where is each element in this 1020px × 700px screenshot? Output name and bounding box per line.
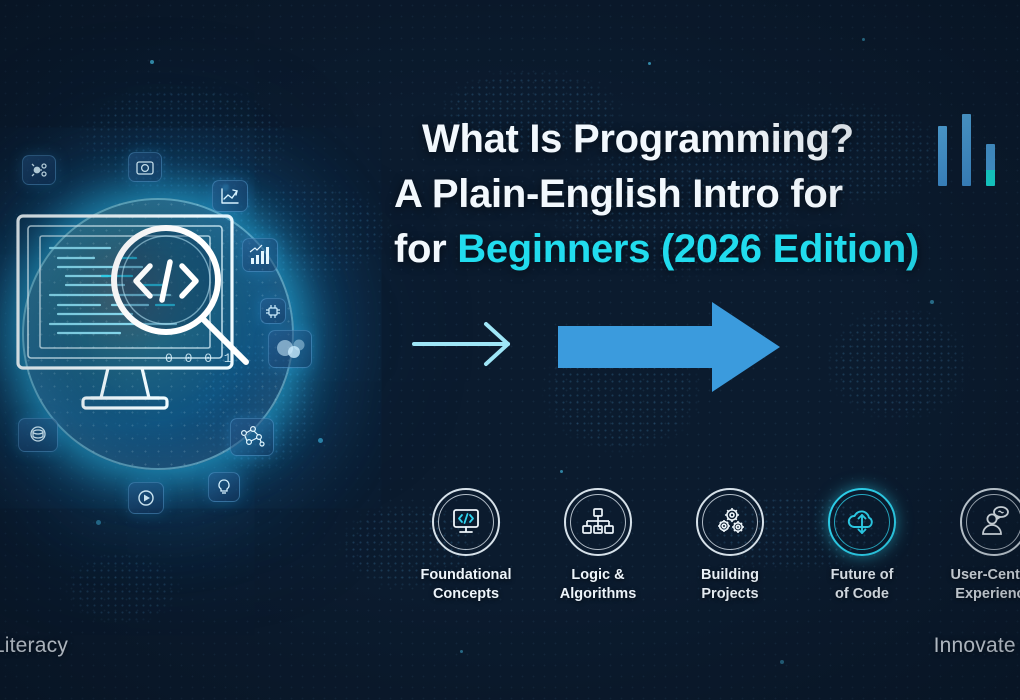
sparkle-particle [780,660,784,664]
tile-circuit-chip-icon [260,298,286,324]
arrow-group [380,280,830,420]
feature-ring [828,488,896,556]
feature-ring [564,488,632,556]
feature-ring [432,488,500,556]
feature-label-line-2: of Code [831,585,894,604]
feature-label-line-1: User-Centric [950,566,1020,585]
feature-user-centric-experience[interactable]: User-Centric Experience [928,488,1020,604]
headline-block: What Is Programming? A Plain-English Int… [380,112,1020,277]
tile-settings-gear-icon [22,155,56,185]
feature-icon-row: Foundational Concepts Logic & Algorithms [400,488,1020,604]
feature-ring [696,488,764,556]
sparkle-particle [862,38,865,41]
feature-building-projects[interactable]: Building Projects [664,488,796,604]
hero-illustration: 0 0 0 1 [0,150,340,530]
headline-line-2: A Plain-English Intro for [380,167,1020,222]
feature-foundational-concepts[interactable]: Foundational Concepts [400,488,532,604]
poster-canvas: 0 0 0 1 [0,0,1020,700]
feature-label-line-2: Algorithms [560,585,637,604]
bold-arrow-right-icon [558,302,780,392]
sparkle-particle [460,650,463,653]
sparkle-particle [648,62,651,65]
feature-label-line-1: Logic & [560,566,637,585]
accent-bar-2 [962,114,971,186]
feature-label: Future of of Code [831,566,894,604]
accent-bar-3 [986,144,995,186]
feature-logic-algorithms[interactable]: Logic & Algorithms [532,488,664,604]
feature-label: Foundational Concepts [420,566,511,604]
feature-label-line-2: Experience [950,585,1020,604]
tile-lightbulb-icon [208,472,240,502]
feature-label-line-2: Projects [701,585,759,604]
tile-play-button-icon [128,482,164,514]
bottom-right-caption: Innovate & [934,634,1020,658]
tile-circles-overlap-icon [268,330,312,368]
feature-future-of-code[interactable]: Future of of Code [796,488,928,604]
headline-accent-text: Beginners (2026 Edition) [457,227,919,271]
feature-label: Logic & Algorithms [560,566,637,604]
tile-database-icon [18,418,58,452]
feature-ring [960,488,1020,556]
feature-label-line-2: Concepts [420,585,511,604]
sparkle-particle [560,470,563,473]
flowchart-tree-icon [581,506,615,538]
code-monitor-icon [449,506,483,538]
bottom-left-caption: l Literacy [0,634,68,658]
tile-bar-chart-icon [242,238,278,272]
feature-label-line-1: Future of [831,566,894,585]
user-chat-icon [977,506,1011,538]
headline-line-3: for Beginners (2026 Edition) [380,222,1020,277]
tile-camera-icon [128,152,162,182]
feature-label: Building Projects [701,566,759,604]
feature-label-line-1: Foundational [420,566,511,585]
gears-icon [712,505,748,539]
accent-bar-1 [938,126,947,186]
sparkle-particle [150,60,154,64]
tile-molecule-network-icon [230,418,274,456]
headline-line-1: What Is Programming? [380,112,1020,167]
feature-label-line-1: Building [701,566,759,585]
bar-accent-graphic [938,114,1008,186]
sparkle-particle [930,300,934,304]
svg-text:0 0 0 1: 0 0 0 1 [165,351,234,366]
headline-line-3-prefix: for [394,227,457,271]
tile-chart-line-icon [212,180,248,212]
feature-label: User-Centric Experience [950,566,1020,604]
thin-arrow-right-icon [414,324,508,364]
cloud-sync-icon [844,506,880,538]
